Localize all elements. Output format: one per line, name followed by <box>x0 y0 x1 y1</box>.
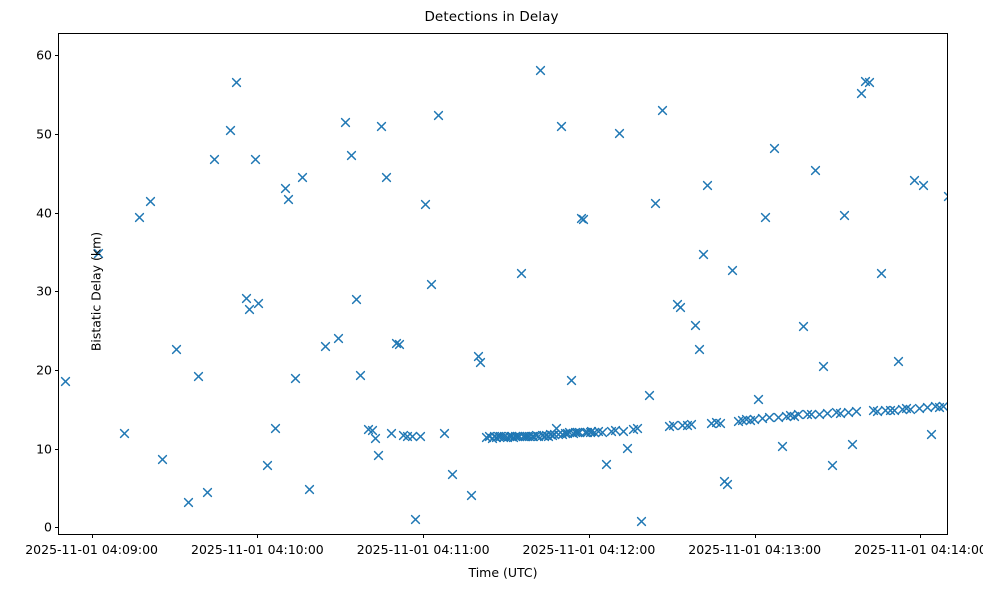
scatter-point <box>398 430 409 441</box>
scatter-point <box>889 405 900 416</box>
scatter-point <box>376 121 387 132</box>
scatter-point <box>851 406 862 417</box>
x-tick-mark <box>423 534 424 538</box>
scatter-point <box>231 77 242 88</box>
scatter-point <box>773 412 784 423</box>
scatter-point <box>798 321 809 332</box>
scatter-point <box>410 514 421 525</box>
scatter-point <box>241 293 252 304</box>
scatter-point <box>597 427 608 438</box>
x-tick-label: 2025-11-01 04:11:00 <box>357 542 490 557</box>
y-tick-mark <box>55 527 59 528</box>
scatter-point <box>572 427 583 438</box>
scatter-point <box>802 409 813 420</box>
scatter-point <box>562 428 573 439</box>
scatter-point <box>351 294 362 305</box>
scatter-point <box>533 431 544 442</box>
scatter-point <box>818 361 829 372</box>
scatter-point <box>250 154 261 165</box>
scatter-point <box>872 406 883 417</box>
scatter-point <box>843 407 854 418</box>
scatter-point <box>556 121 567 132</box>
scatter-point <box>677 420 688 431</box>
scatter-point <box>664 421 675 432</box>
scatter-point <box>822 408 833 419</box>
scatter-point <box>806 409 817 420</box>
scatter-point <box>516 268 527 279</box>
scatter-point <box>475 357 486 368</box>
scatter-point <box>391 338 402 349</box>
x-tick-mark <box>257 534 258 538</box>
scatter-point <box>171 344 182 355</box>
scatter-point <box>506 431 517 442</box>
x-tick-mark <box>755 534 756 538</box>
scatter-point <box>564 427 575 438</box>
scatter-point <box>926 429 937 440</box>
scatter-point <box>553 429 564 440</box>
scatter-point <box>715 418 726 429</box>
scatter-point <box>672 299 683 310</box>
scatter-point <box>753 394 764 405</box>
scatter-point <box>363 424 374 435</box>
scatter-point <box>297 172 308 183</box>
x-tick-label: 2025-11-01 04:10:00 <box>191 542 324 557</box>
scatter-point <box>466 490 477 501</box>
scatter-point <box>601 459 612 470</box>
scatter-point <box>885 405 896 416</box>
scatter-point <box>897 404 908 415</box>
scatter-point <box>373 450 384 461</box>
scatter-point <box>283 194 294 205</box>
scatter-point <box>576 213 587 224</box>
scatter-point <box>593 426 604 437</box>
scatter-point <box>893 356 904 367</box>
scatter-point <box>202 487 213 498</box>
scatter-point <box>560 428 571 439</box>
chart-title: Detections in Delay <box>0 9 983 25</box>
scatter-point <box>589 427 600 438</box>
scatter-point <box>628 424 639 435</box>
scatter-point <box>499 431 510 442</box>
scatter-point <box>527 431 538 442</box>
scatter-point <box>510 431 521 442</box>
scatter-point <box>835 408 846 419</box>
scatter-point <box>386 428 397 439</box>
scatter-point <box>868 405 879 416</box>
scatter-point <box>447 469 458 480</box>
y-tick-mark <box>55 213 59 214</box>
scatter-point <box>733 416 744 427</box>
scatter-point <box>407 431 418 442</box>
scatter-point <box>60 376 71 387</box>
scatter-point <box>290 373 301 384</box>
scatter-point <box>764 412 775 423</box>
scatter-point <box>381 172 392 183</box>
scatter-point <box>518 431 529 442</box>
scatter-point <box>491 432 502 443</box>
scatter-point <box>614 128 625 139</box>
scatter-point <box>706 418 717 429</box>
scatter-point <box>610 425 621 436</box>
y-tick-label: 20 <box>36 362 52 377</box>
y-tick-mark <box>55 134 59 135</box>
scatter-point <box>524 431 535 442</box>
scatter-point <box>547 430 558 441</box>
scatter-point <box>847 439 858 450</box>
scatter-point <box>749 414 760 425</box>
scatter-point <box>541 430 552 441</box>
scatter-point <box>545 429 556 440</box>
scatter-point <box>346 150 357 161</box>
scatter-point <box>543 431 554 442</box>
scatter-point <box>433 110 444 121</box>
scatter-point <box>860 76 871 87</box>
scatter-point <box>668 420 679 431</box>
scatter-point <box>209 154 220 165</box>
scatter-point <box>876 268 887 279</box>
scatter-point <box>650 198 661 209</box>
scatter-point <box>244 304 255 315</box>
scatter-point <box>618 426 629 437</box>
scatter-point <box>193 371 204 382</box>
scatter-point <box>481 432 492 443</box>
scatter-point <box>493 431 504 442</box>
scatter-point <box>520 431 531 442</box>
scatter-point <box>905 404 916 415</box>
scatter-point <box>489 431 500 442</box>
scatter-point <box>657 105 668 116</box>
scatter-point <box>574 427 585 438</box>
y-tick-label: 40 <box>36 205 52 220</box>
scatter-point <box>367 425 378 436</box>
scatter-point <box>938 401 947 412</box>
y-tick-label: 10 <box>36 441 52 456</box>
x-tick-label: 2025-11-01 04:12:00 <box>523 542 656 557</box>
scatter-point <box>508 432 519 443</box>
scatter-point <box>370 433 381 444</box>
scatter-point <box>757 413 768 424</box>
scatter-point <box>810 165 821 176</box>
y-tick-mark <box>55 449 59 450</box>
scatter-point <box>831 407 842 418</box>
scatter-point <box>280 183 291 194</box>
scatter-point <box>793 409 804 420</box>
scatter-point <box>711 417 722 428</box>
scatter-point <box>402 431 413 442</box>
scatter-point <box>514 431 525 442</box>
scatter-point <box>760 212 771 223</box>
scatter-point <box>901 403 912 414</box>
scatter-point <box>737 415 748 426</box>
scatter-point <box>415 431 426 442</box>
scatter-point <box>333 333 344 344</box>
scatter-point <box>585 427 596 438</box>
scatter-point <box>582 427 593 438</box>
scatter-point <box>698 249 709 260</box>
scatter-point <box>814 409 825 420</box>
scatter-point <box>864 77 875 88</box>
scatter-point <box>909 175 920 186</box>
x-tick-mark <box>92 534 93 538</box>
scatter-point <box>606 426 617 437</box>
scatter-point <box>439 428 450 439</box>
scatter-point <box>675 302 686 313</box>
scatter-point <box>686 419 697 430</box>
y-axis-label: Bistatic Delay (km) <box>89 192 104 392</box>
scatter-point <box>183 497 194 508</box>
y-tick-mark <box>55 291 59 292</box>
y-tick-label: 60 <box>36 48 52 63</box>
scatter-point <box>918 180 929 191</box>
x-tick-label: 2025-11-01 04:09:00 <box>25 542 158 557</box>
scatter-point <box>320 341 331 352</box>
scatter-point <box>420 199 431 210</box>
scatter-point <box>566 375 577 386</box>
scatter-point <box>512 431 523 442</box>
scatter-point <box>785 410 796 421</box>
scatter-point <box>262 460 273 471</box>
scatter-point <box>539 431 550 442</box>
scatter-point <box>914 403 925 414</box>
scatter-point <box>769 143 780 154</box>
scatter-point <box>157 454 168 465</box>
scatter-point <box>504 431 515 442</box>
scatter-point <box>426 279 437 290</box>
scatter-point <box>528 431 539 442</box>
scatter-point <box>580 427 591 438</box>
scatter-point <box>535 65 546 76</box>
scatter-point <box>225 125 236 136</box>
scatter-point <box>549 429 560 440</box>
plot-axes: 01020304050602025-11-01 04:09:002025-11-… <box>58 33 948 535</box>
x-axis-label: Time (UTC) <box>58 565 948 580</box>
scatter-point <box>578 214 589 225</box>
scatter-point <box>394 339 405 350</box>
y-tick-mark <box>55 55 59 56</box>
scatter-point <box>930 401 941 412</box>
scatter-point <box>722 479 733 490</box>
scatter-point <box>498 432 509 443</box>
y-tick-mark <box>55 370 59 371</box>
x-tick-mark <box>589 534 590 538</box>
scatter-point <box>570 427 581 438</box>
scatter-point <box>253 298 264 309</box>
figure-canvas: Detections in Delay 01020304050602025-11… <box>0 0 983 590</box>
scatter-point <box>586 426 597 437</box>
scatter-point <box>487 433 498 444</box>
scatter-point <box>702 180 713 191</box>
scatter-point <box>473 351 484 362</box>
scatter-point <box>484 431 495 442</box>
scatter-point <box>522 431 533 442</box>
scatter-point <box>568 428 579 439</box>
scatter-point <box>781 411 792 422</box>
scatter-point <box>777 441 788 452</box>
y-tick-label: 30 <box>36 284 52 299</box>
scatter-point <box>922 402 933 413</box>
scatter-point <box>502 432 513 443</box>
scatter-point <box>557 429 568 440</box>
scatter-point <box>694 344 705 355</box>
scatter-point <box>856 88 867 99</box>
scatter-point <box>495 431 506 442</box>
scatter-point <box>727 265 738 276</box>
x-tick-label: 2025-11-01 04:13:00 <box>688 542 821 557</box>
scatter-point <box>719 476 730 487</box>
scatter-point <box>355 370 366 381</box>
scatter-point <box>531 430 542 441</box>
scatter-point <box>682 420 693 431</box>
scatter-point <box>632 423 643 434</box>
scatter-point <box>789 411 800 422</box>
y-tick-label: 50 <box>36 126 52 141</box>
scatter-point <box>145 196 156 207</box>
scatter-point <box>636 516 647 527</box>
scatter-point <box>827 460 838 471</box>
x-tick-mark <box>920 534 921 538</box>
scatter-point <box>537 430 548 441</box>
scatter-plot-area <box>59 34 947 534</box>
scatter-point <box>934 402 945 413</box>
scatter-point <box>690 320 701 331</box>
scatter-point <box>839 210 850 221</box>
scatter-point <box>622 443 633 454</box>
scatter-point <box>119 428 130 439</box>
scatter-point <box>134 212 145 223</box>
scatter-point <box>880 405 891 416</box>
scatter-point <box>644 390 655 401</box>
scatter-point <box>745 415 756 426</box>
y-tick-label: 0 <box>44 520 52 535</box>
scatter-point <box>551 423 562 434</box>
scatter-point <box>270 423 281 434</box>
scatter-point <box>340 117 351 128</box>
x-tick-label: 2025-11-01 04:14:00 <box>854 542 983 557</box>
scatter-point <box>304 484 315 495</box>
scatter-point <box>741 414 752 425</box>
scatter-point <box>943 191 947 202</box>
